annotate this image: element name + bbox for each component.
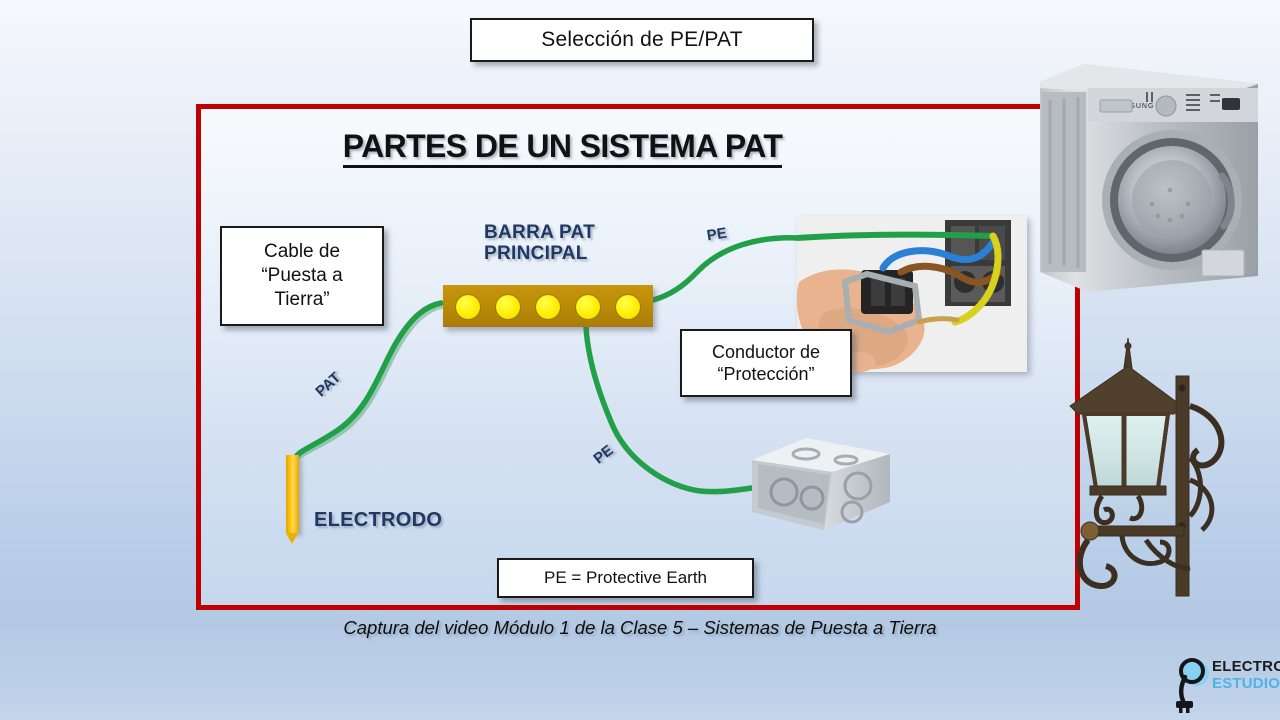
slide-title-box: Selección de PE/PAT — [470, 18, 814, 62]
callout-cable-line2: “Puesta a — [261, 264, 342, 288]
diagram-heading-text: PARTES DE UN SISTEMA PAT — [343, 128, 783, 168]
electro-estudio-logo: ELECTRO ESTUDIO — [1172, 655, 1277, 713]
electrode-rod — [286, 455, 299, 533]
callout-cable-puesta-a-tierra: Cable de “Puesta a Tierra” — [220, 226, 384, 326]
diagram-heading: PARTES DE UN SISTEMA PAT — [225, 128, 900, 165]
photo-washing-machine: SAMSUNG — [1026, 60, 1266, 292]
junction-box-art — [740, 424, 905, 544]
callout-conductor-proteccion: Conductor de “Protección” — [680, 329, 852, 397]
photo-wall-lantern — [1062, 330, 1277, 602]
pat-terminal — [615, 294, 641, 320]
pat-terminal — [495, 294, 521, 320]
label-barra-pat: BARRA PAT PRINCIPAL — [484, 222, 595, 265]
label-pe-upper: PE — [706, 226, 728, 246]
callout-conductor-line2: “Protección” — [717, 363, 814, 386]
callout-cable-line1: Cable de — [264, 240, 340, 264]
callout-cable-line3: Tierra” — [274, 288, 329, 312]
label-electrodo: ELECTRODO — [314, 509, 442, 531]
washing-machine-art: SAMSUNG — [1026, 60, 1266, 292]
logo-primary-text: ELECTRO — [1212, 658, 1280, 675]
lantern-art — [1062, 330, 1277, 602]
photo-junction-box — [740, 424, 905, 544]
slide-caption: Captura del video Módulo 1 de la Clase 5… — [200, 617, 1080, 639]
pat-terminal — [575, 294, 601, 320]
callout-legend-text: PE = Protective Earth — [544, 567, 707, 588]
slide-title-text: Selección de PE/PAT — [541, 28, 742, 52]
pat-terminal — [535, 294, 561, 320]
pat-main-bar — [443, 285, 653, 327]
logo-secondary-text: ESTUDIO — [1212, 675, 1280, 692]
pat-terminal — [455, 294, 481, 320]
callout-pe-legend: PE = Protective Earth — [497, 558, 754, 598]
callout-conductor-line1: Conductor de — [712, 341, 820, 364]
